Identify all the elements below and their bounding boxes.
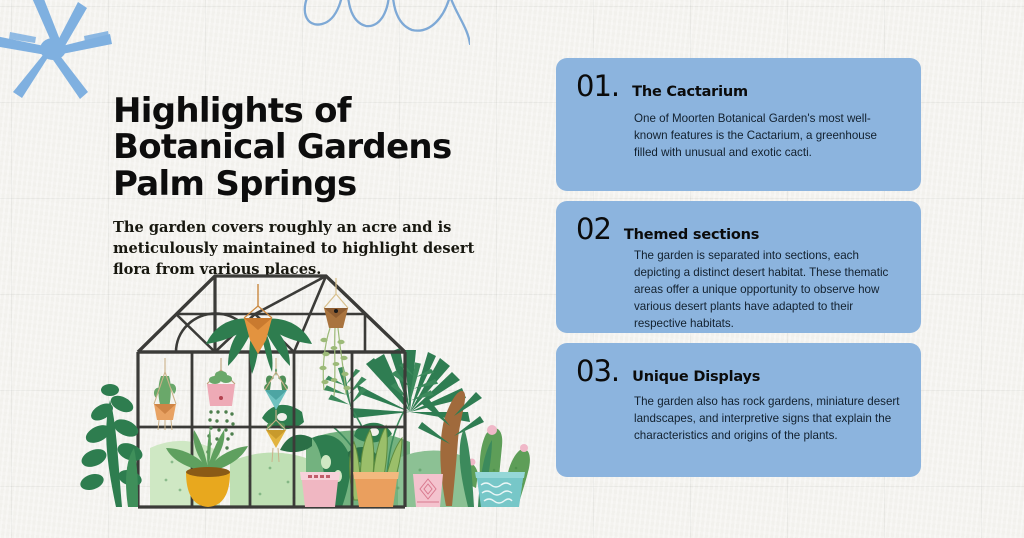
page-title: Highlights of Botanical Gardens Palm Spr… bbox=[113, 93, 533, 202]
header-block: Highlights of Botanical Gardens Palm Spr… bbox=[113, 93, 533, 280]
card-number: 02 bbox=[576, 215, 611, 244]
greenhouse-with-plants-illustration bbox=[80, 262, 540, 538]
orange-pot-plant bbox=[353, 472, 399, 507]
card-title: Themed sections bbox=[624, 228, 759, 244]
card-number: 01. bbox=[576, 72, 619, 101]
highlight-card[interactable]: 01. The Cactarium One of Moorten Botanic… bbox=[556, 58, 921, 191]
infographic-page: Highlights of Botanical Gardens Palm Spr… bbox=[0, 0, 1024, 538]
pink-pot-plant bbox=[300, 472, 340, 507]
teal-pot-plant bbox=[475, 472, 525, 507]
card-header: 03. Unique Displays bbox=[576, 357, 901, 386]
card-body-text: The garden also has rock gardens, miniat… bbox=[634, 394, 901, 445]
card-title: The Cactarium bbox=[632, 85, 748, 101]
card-body-text: One of Moorten Botanical Garden's most w… bbox=[634, 111, 901, 162]
loop-scribble-doodle-icon bbox=[300, 0, 470, 55]
highlights-card-list: 01. The Cactarium One of Moorten Botanic… bbox=[556, 58, 921, 487]
card-title: Unique Displays bbox=[632, 370, 760, 386]
card-header: 01. The Cactarium bbox=[576, 72, 901, 101]
patterned-pot-plant bbox=[413, 474, 443, 507]
asterisk-doodle-icon bbox=[0, 0, 122, 110]
highlight-card[interactable]: 02 Themed sections The garden is separat… bbox=[556, 201, 921, 333]
card-header: 02 Themed sections bbox=[576, 215, 901, 244]
card-number: 03. bbox=[576, 357, 619, 386]
highlight-card[interactable]: 03. Unique Displays The garden also has … bbox=[556, 343, 921, 477]
card-body-text: The garden is separated into sections, e… bbox=[634, 248, 901, 333]
